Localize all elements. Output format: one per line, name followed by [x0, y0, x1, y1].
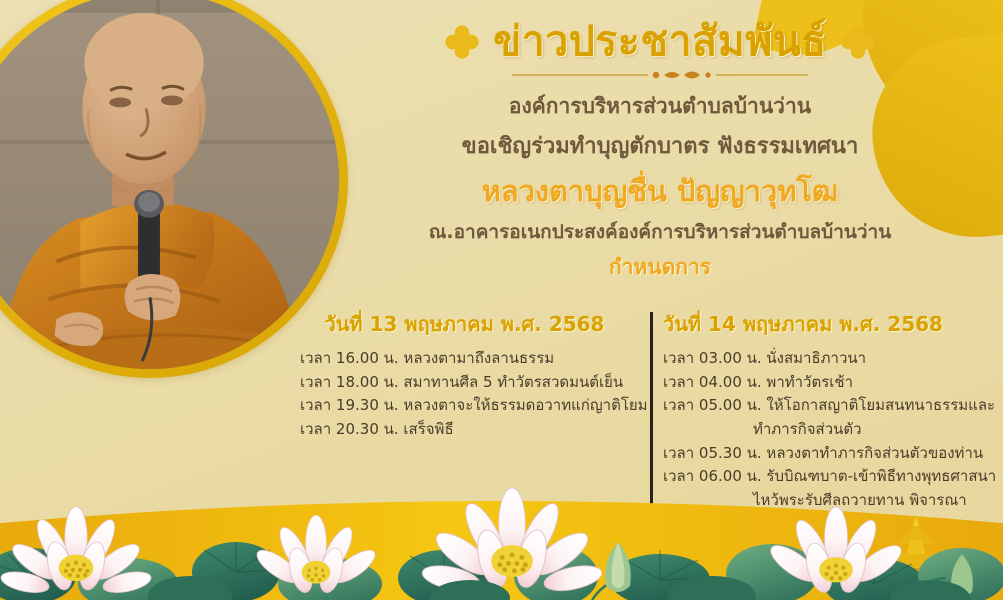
schedule-heading: กำหนดการ — [330, 252, 990, 284]
schedule-item: เวลา 20.30 น. เสร็จพิธี — [300, 418, 629, 442]
schedule-item-text: เวลา 03.00 น. นั่งสมาธิภาวนา — [663, 349, 866, 367]
title-row: ข่าวประชาสัมพันธ์ — [330, 18, 990, 65]
schedule-item-text: เวลา 19.30 น. หลวงตาจะให้ธรรมดอวาทแก่ญาต… — [300, 396, 648, 414]
schedule-item: เวลา 05.30 น. หลวงตาทำภารกิจส่วนตัวของท่… — [663, 442, 990, 466]
schedule-item-text: เวลา 05.00 น. ให้โอกาสญาติโยมสนทนาธรรมแล… — [663, 396, 995, 414]
schedule-columns: วันที่ 13 พฤษภาคม พ.ศ. 2568 เวลา 16.00 น… — [300, 308, 990, 518]
schedule-item-text: เวลา 04.00 น. พาทำวัตรเช้า — [663, 373, 853, 391]
venue-line: ณ.อาคารอเนกประสงค์องค์การบริหารส่วนตำบลบ… — [330, 218, 990, 247]
schedule-item-continuation: ไหว้พระรับศีลถวายทาน พิจารณา — [663, 489, 990, 513]
page-title: ข่าวประชาสัมพันธ์ — [493, 18, 827, 65]
schedule-item: เวลา 03.00 น. นั่งสมาธิภาวนา — [663, 347, 990, 371]
schedule-item-text: เวลา 18.00 น. สมาทานศีล 5 ทำวัตรสวดมนต์เ… — [300, 373, 623, 391]
schedule-day2-column: วันที่ 14 พฤษภาคม พ.ศ. 2568 เวลา 03.00 น… — [645, 308, 990, 518]
monk-name: หลวงตาบุญชื่น ปัญญาวุทโฒ — [330, 170, 990, 212]
monk-portrait-photo — [0, 0, 339, 369]
monk-photo-ring — [0, 0, 348, 378]
organization-line: องค์การบริหารส่วนตำบลบ้านว่าน — [330, 90, 990, 123]
schedule-item: เวลา 06.00 น. รับบิณฑบาต-เข้าพิธีทางพุทธ… — [663, 465, 990, 512]
schedule-item-text: เวลา 20.30 น. เสร็จพิธี — [300, 420, 454, 438]
schedule-item: เวลา 16.00 น. หลวงตามาถึงลานธรรม — [300, 347, 629, 371]
poster: ข่าวประชาสัมพันธ์ องค์การบริหารส่วนตำบลบ… — [0, 0, 1003, 600]
ornamental-divider-icon — [510, 68, 810, 82]
schedule-item-text: เวลา 05.30 น. หลวงตาทำภารกิจส่วนตัวของท่… — [663, 444, 983, 462]
schedule-item-text: เวลา 16.00 น. หลวงตามาถึงลานธรรม — [300, 349, 554, 367]
schedule-item-continuation: ทำภารกิจส่วนตัว — [663, 418, 990, 442]
header: ข่าวประชาสัมพันธ์ องค์การบริหารส่วนตำบลบ… — [330, 18, 990, 284]
quatrefoil-icon-right — [841, 25, 875, 59]
schedule-item: เวลา 04.00 น. พาทำวัตรเช้า — [663, 371, 990, 395]
day2-heading: วันที่ 14 พฤษภาคม พ.ศ. 2568 — [663, 308, 990, 340]
schedule-item-continuation: อาหาร อนุโมทนาบุญให้พร — [663, 513, 990, 537]
schedule-day1-column: วันที่ 13 พฤษภาคม พ.ศ. 2568 เวลา 16.00 น… — [300, 308, 645, 518]
schedule-item: เวลา 18.00 น. สมาทานศีล 5 ทำวัตรสวดมนต์เ… — [300, 371, 629, 395]
schedule-item: อาหาร อนุโมทนาบุญให้พร — [663, 513, 990, 537]
schedule-item: เวลา 19.30 น. หลวงตาจะให้ธรรมดอวาทแก่ญาต… — [300, 394, 629, 418]
schedule-item-text: เวลา 06.00 น. รับบิณฑบาต-เข้าพิธีทางพุทธ… — [663, 467, 996, 485]
quatrefoil-icon-left — [445, 25, 479, 59]
invitation-line: ขอเชิญร่วมทำบุญตักบาตร ฟังธรรมเทศนา — [330, 129, 990, 164]
day1-heading: วันที่ 13 พฤษภาคม พ.ศ. 2568 — [300, 308, 629, 340]
schedule-item: เวลา 05.00 น. ให้โอกาสญาติโยมสนทนาธรรมแล… — [663, 394, 990, 441]
